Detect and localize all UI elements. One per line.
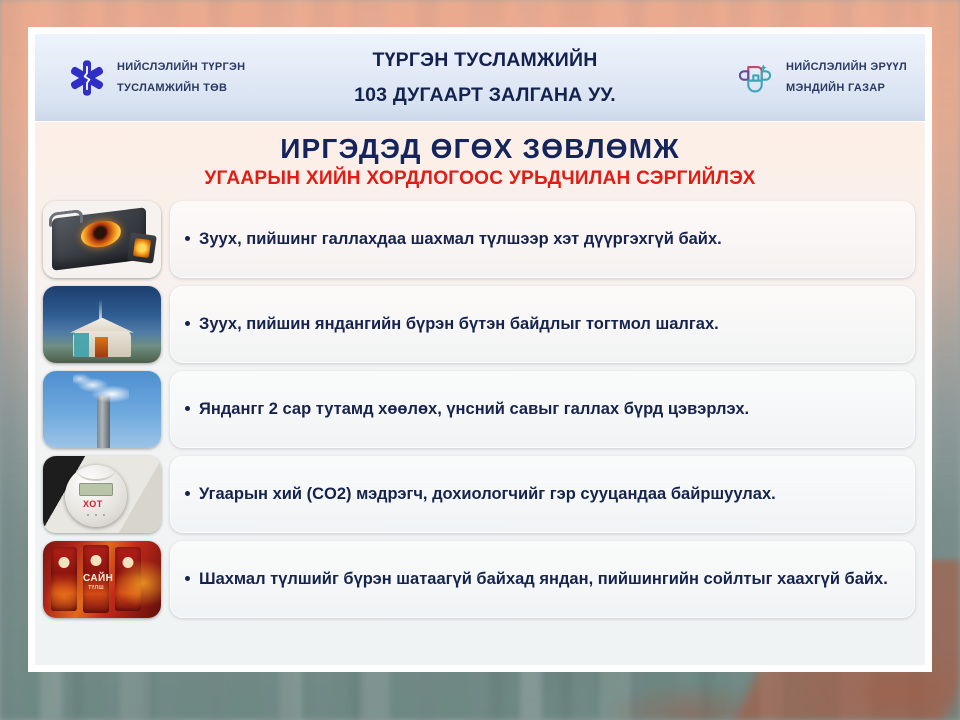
chimney-stack [97,396,110,448]
health-department-logo: НИЙСЛЭЛИЙН ЭРҮҮЛ МЭНДИЙН ГАЗАР [675,57,925,99]
thumbnail-ger-dusk [43,286,161,363]
detector-brand-label: ХОТ [83,499,103,509]
health-logo-line1: НИЙСЛЭЛИЙН ЭРҮҮЛ [786,57,907,78]
page-title: ИРГЭДЭД ӨГӨХ ЗӨВЛӨМЖ [35,134,925,165]
bullet-dot-icon [185,576,190,581]
health-department-logo-text: НИЙСЛЭЛИЙН ЭРҮҮЛ МЭНДИЙН ГАЗАР [786,57,907,99]
advice-text: Зуух, пийшин яндангийн бүрэн бүтэн байдл… [199,313,719,335]
thumbnail-chimney-smoke [43,371,161,448]
poster-frame: НИЙСЛЭЛИЙН ТҮРГЭН ТУСЛАМЖИЙН ТӨВ ТҮРГЭН … [28,27,932,672]
advice-text: Яндангг 2 сар тутамд хөөлөх, үнсний савы… [199,398,749,420]
advice-panel: Яндангг 2 сар тутамд хөөлөх, үнсний савы… [170,371,915,448]
advice-text: Зуух, пийшинг галлахдаа шахмал түлшээр х… [199,228,722,250]
advice-row: САЙН ТҮЛШ Шахмал түлшийг бүрэн [43,541,915,618]
poster-canvas: НИЙСЛЭЛИЙН ТҮРГЭН ТУСЛАМЖИЙН ТӨВ ТҮРГЭН … [0,0,960,720]
health-cross-icon [734,57,776,99]
stove-handle [49,209,83,227]
detector-screen [79,483,113,496]
page-subtitle: УГААРЫН ХИЙН ХОРДЛОГООС УРЬДЧИЛАН СЭРГИЙ… [35,168,925,190]
emergency-logo-line2: ТУСЛАМЖИЙН ТӨВ [117,78,245,99]
advice-row: Зуух, пийшинг галлахдаа шахмал түлшээр х… [43,201,915,278]
emergency-call-notice: ТҮРГЭН ТУСЛАМЖИЙН 103 ДУГААРТ ЗАЛГАНА УУ… [295,43,675,111]
emergency-logo-line1: НИЙСЛЭЛИЙН ТҮРГЭН [117,57,245,78]
ger-illustration [43,286,161,363]
advice-row: ХОТ Угаарын хий (CO2) мэдрэгч, дохиологч… [43,456,915,533]
thumbnail-coal-bags: САЙН ТҮЛШ [43,541,161,618]
title-band: ИРГЭДЭД ӨГӨХ ЗӨВЛӨМЖ УГААРЫН ХИЙН ХОРДЛО… [35,122,925,190]
advice-panel: Зуух, пийшин яндангийн бүрэн бүтэн байдл… [170,286,915,363]
stove-door [127,232,157,263]
health-logo-line2: МЭНДИЙН ГАЗАР [786,78,907,99]
coal-bags-illustration: САЙН ТҮЛШ [43,541,161,618]
flame-glow [43,541,161,618]
chimney-illustration [43,371,161,448]
advice-text: Угаарын хий (CO2) мэдрэгч, дохиологчийг … [199,483,776,505]
ger-teal-panel [74,333,89,357]
bullet-dot-icon [185,406,190,411]
advice-panel: Шахмал түлшийг бүрэн шатаагүй байхад янд… [170,541,915,618]
bullet-dot-icon [185,491,190,496]
stove-illustration [43,201,161,278]
poster-content: НИЙСЛЭЛИЙН ТҮРГЭН ТУСЛАМЖИЙН ТӨВ ТҮРГЭН … [35,34,925,665]
chimney-smoke [73,373,129,403]
detector-vents [85,513,107,518]
advice-row: Зуух, пийшин яндангийн бүрэн бүтэн байдл… [43,286,915,363]
emergency-call-line1: ТҮРГЭН ТУСЛАМЖИЙН [295,43,675,77]
emergency-center-logo-text: НИЙСЛЭЛИЙН ТҮРГЭН ТУСЛАМЖИЙН ТӨВ [117,57,245,99]
ger-door [95,337,108,357]
detector-illustration: ХОТ [43,456,161,533]
advice-panel: Зуух, пийшинг галлахдаа шахмал түлшээр х… [170,201,915,278]
thumbnail-co-detector: ХОТ [43,456,161,533]
header-band: НИЙСЛЭЛИЙН ТҮРГЭН ТУСЛАМЖИЙН ТӨВ ТҮРГЭН … [35,34,925,122]
thumbnail-stove-fire [43,201,161,278]
emergency-center-logo: НИЙСЛЭЛИЙН ТҮРГЭН ТУСЛАМЖИЙН ТӨВ [35,57,295,99]
advice-row: Яндангг 2 сар тутамд хөөлөх, үнсний савы… [43,371,915,448]
bullet-dot-icon [185,321,190,326]
advice-text: Шахмал түлшийг бүрэн шатаагүй байхад янд… [199,568,888,590]
bullet-dot-icon [185,236,190,241]
ger-smoke [99,299,102,319]
advice-panel: Угаарын хий (CO2) мэдрэгч, дохиологчийг … [170,456,915,533]
emergency-call-line2: 103 ДУГААРТ ЗАЛГАНА УУ. [295,78,675,112]
star-of-life-icon [67,58,107,98]
advice-list: Зуух, пийшинг галлахдаа шахмал түлшээр х… [35,201,925,618]
